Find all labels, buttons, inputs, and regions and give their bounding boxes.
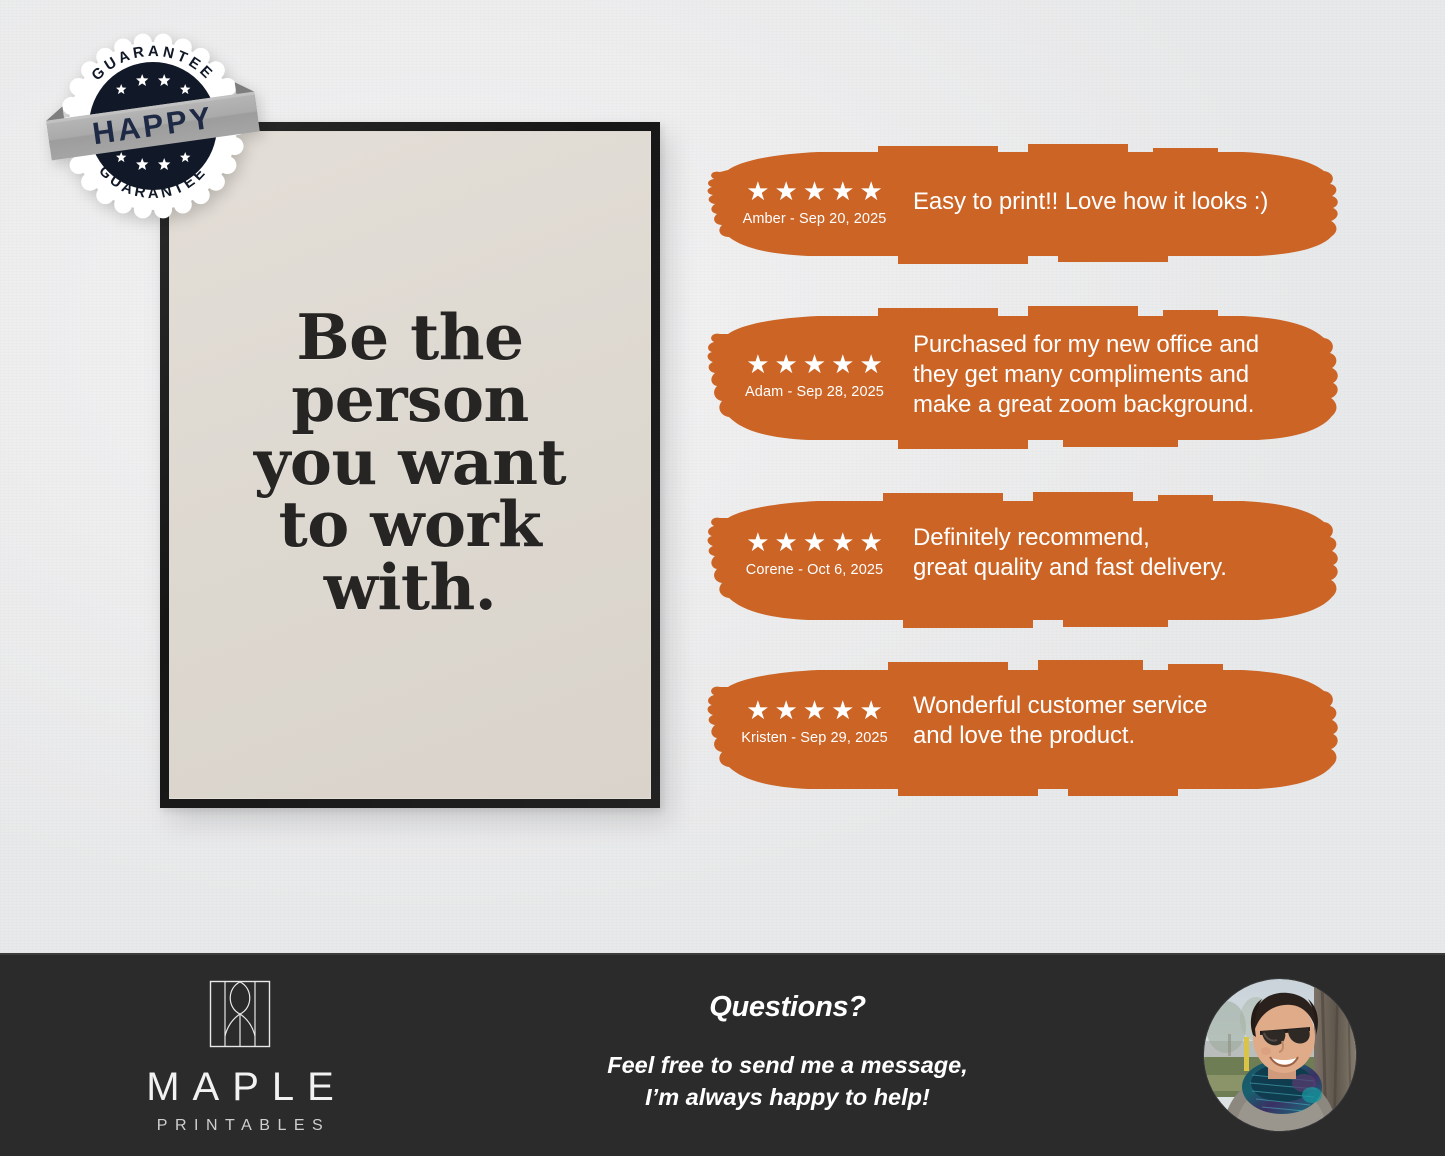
review-text: Purchased for my new office and they get… [913,330,1299,421]
reviewer-name-date: Kristen - Sep 29, 2025 [741,730,888,746]
review-rating: ★★★★★ Kristen - Sep 29, 2025 [698,697,913,746]
review-text-line: they get many compliments and [913,360,1259,390]
review-item: ★★★★★ Kristen - Sep 29, 2025 Wonderful c… [698,646,1348,796]
shop-owner-portrait-icon [1204,979,1356,1131]
questions-line-2: I’m always happy to help! [607,1082,968,1114]
poster-line-5: with. [184,556,635,618]
poster-paper: Be the person you want to work with. [169,131,651,799]
review-rating: ★★★★★ Corene - Oct 6, 2025 [698,529,913,578]
guarantee-seal-icon: GUARANTEE GUARANTEE [44,22,262,224]
avatar-block [1115,979,1445,1131]
star-rating-icon: ★★★★★ [746,529,883,555]
avatar [1204,979,1356,1131]
review-rating: ★★★★★ Amber - Sep 20, 2025 [698,178,913,227]
review-item: ★★★★★ Adam - Sep 28, 2025 Purchased for … [698,290,1348,460]
footer-bar: MAPLE PRINTABLES Questions? Feel free to… [0,953,1445,1156]
poster-quote: Be the person you want to work with. [184,306,635,618]
reviewer-name-date: Amber - Sep 20, 2025 [743,211,887,227]
reviews-list: ★★★★★ Amber - Sep 20, 2025 Easy to print… [698,132,1348,814]
reviewer-name-date: Adam - Sep 28, 2025 [745,384,884,400]
review-item: ★★★★★ Amber - Sep 20, 2025 Easy to print… [698,132,1348,272]
star-rating-icon: ★★★★★ [746,351,883,377]
poster-frame: Be the person you want to work with. [160,122,660,808]
maple-logo-icon [209,980,271,1053]
review-text-line: Purchased for my new office and [913,330,1259,360]
poster-line-1: Be the [184,306,635,368]
review-text: Wonderful customer service and love the … [913,691,1247,751]
reviewer-name-date: Corene - Oct 6, 2025 [746,562,883,578]
review-text-line: Wonderful customer service [913,691,1207,721]
poster-line-3: you want [184,431,635,493]
questions-body: Feel free to send me a message, I’m alwa… [607,1050,968,1113]
review-rating: ★★★★★ Adam - Sep 28, 2025 [698,351,913,400]
star-rating-icon: ★★★★★ [746,178,883,204]
questions-line-1: Feel free to send me a message, [607,1050,968,1082]
review-text-line: Definitely recommend, [913,523,1227,553]
maple-monogram-icon [209,980,271,1048]
review-text: Definitely recommend, great quality and … [913,523,1267,583]
brand-name: MAPLE [133,1067,347,1107]
questions-title: Questions? [709,991,866,1024]
footer-divider [0,953,1445,955]
review-text: Easy to print!! Love how it looks :) [913,187,1308,217]
brand-subtitle: PRINTABLES [150,1117,330,1135]
questions-block: Questions? Feel free to send me a messag… [460,991,1115,1117]
poster-line-2: person [184,368,635,430]
review-item: ★★★★★ Corene - Oct 6, 2025 Definitely re… [698,478,1348,628]
brand-block: MAPLE PRINTABLES [0,974,480,1135]
listing-image: Be the person you want to work with. [0,0,1445,1156]
poster-line-4: to work [184,493,635,555]
happy-guarantee-badge: GUARANTEE GUARANTEE [44,22,262,224]
review-text-line: make a great zoom background. [913,390,1259,420]
review-text-line: Easy to print!! Love how it looks :) [913,187,1268,217]
review-text-line: great quality and fast delivery. [913,553,1227,583]
star-rating-icon: ★★★★★ [746,697,883,723]
review-text-line: and love the product. [913,721,1207,751]
